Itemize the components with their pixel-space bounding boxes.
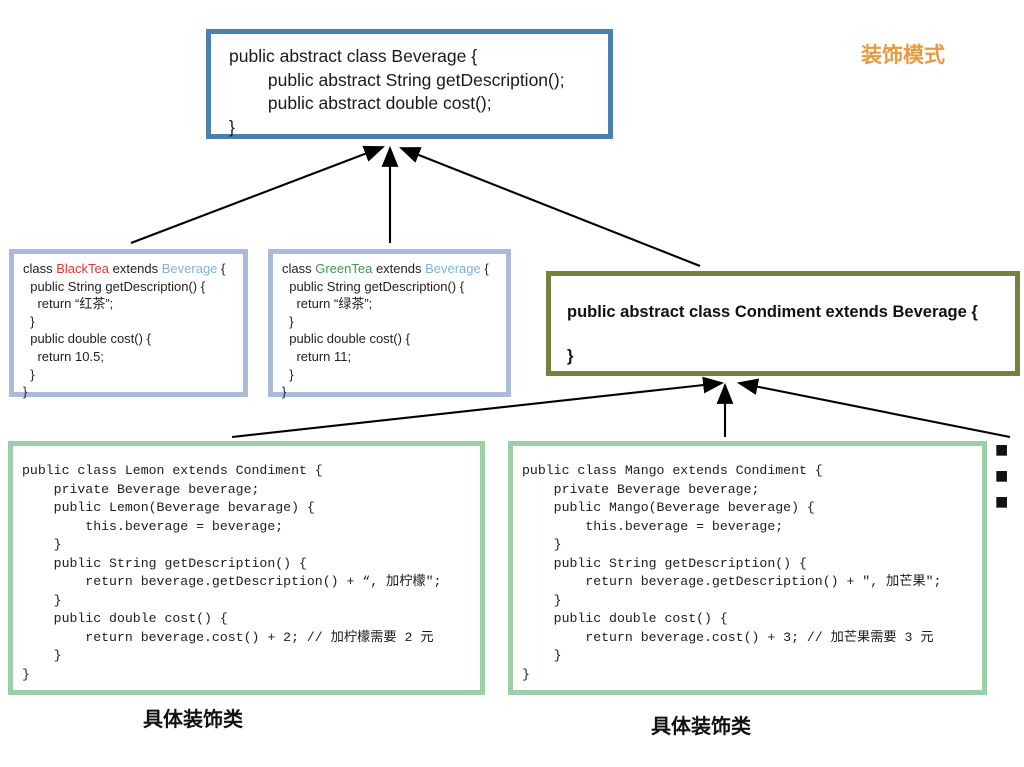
blacktea-body: public String getDescription() { return … bbox=[23, 279, 205, 400]
blacktea-class-name: BlackTea bbox=[56, 261, 109, 276]
greentea-parent-name: Beverage bbox=[425, 261, 481, 276]
blacktea-line1-mid: extends bbox=[109, 261, 162, 276]
lemon-code: public class Lemon extends Condiment { p… bbox=[13, 446, 480, 684]
caption-concrete-decorator-lemon: 具体装饰类 bbox=[143, 703, 243, 732]
greentea-line1-mid: extends bbox=[372, 261, 425, 276]
blacktea-line1-post: { bbox=[217, 261, 225, 276]
class-box-beverage[interactable]: public abstract class Beverage { public … bbox=[206, 29, 613, 139]
arrow-more-to-condiment bbox=[739, 383, 1010, 437]
arrow-blacktea-to-beverage bbox=[131, 147, 383, 243]
blacktea-parent-name: Beverage bbox=[162, 261, 218, 276]
class-box-blacktea[interactable]: class BlackTea extends Beverage { public… bbox=[9, 249, 248, 397]
greentea-class-name: GreenTea bbox=[315, 261, 372, 276]
greentea-line1-post: { bbox=[481, 261, 489, 276]
class-box-greentea[interactable]: class GreenTea extends Beverage { public… bbox=[268, 249, 511, 397]
class-box-mango[interactable]: public class Mango extends Condiment { p… bbox=[508, 441, 987, 695]
class-box-condiment[interactable]: public abstract class Condiment extends … bbox=[546, 271, 1020, 376]
greentea-code: class GreenTea extends Beverage { public… bbox=[273, 254, 506, 401]
greentea-body: public String getDescription() { return … bbox=[282, 279, 464, 400]
greentea-line1-pre: class bbox=[282, 261, 315, 276]
class-box-lemon[interactable]: public class Lemon extends Condiment { p… bbox=[8, 441, 485, 695]
condiment-code: public abstract class Condiment extends … bbox=[551, 276, 1015, 367]
beverage-code: public abstract class Beverage { public … bbox=[211, 34, 608, 139]
page-title: 装饰模式 bbox=[861, 39, 945, 69]
mango-code: public class Mango extends Condiment { p… bbox=[513, 446, 982, 684]
more-decorators-ellipsis: ■ ■ ■ bbox=[995, 437, 1024, 515]
decorator-pattern-slide: 装饰模式 public abstract class Beverage { pu… bbox=[0, 0, 1024, 767]
blacktea-line1-pre: class bbox=[23, 261, 56, 276]
caption-concrete-decorator-mango: 具体装饰类 bbox=[651, 710, 751, 739]
blacktea-code: class BlackTea extends Beverage { public… bbox=[14, 254, 243, 401]
